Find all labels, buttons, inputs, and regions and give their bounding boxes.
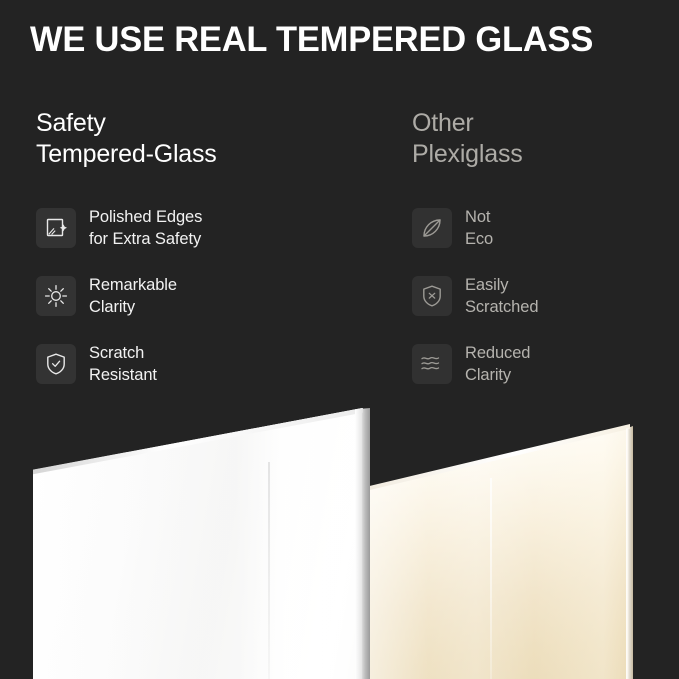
- page-title: WE USE REAL TEMPERED GLASS: [30, 20, 651, 60]
- plexiglass-panel-sheen: [370, 426, 635, 679]
- column-heading-right: Other Plexiglass: [412, 108, 679, 170]
- tempered-glass-panel-reflection-line: [268, 462, 270, 679]
- clarity-sun-icon: [36, 276, 76, 316]
- tempered-glass-panel-side-edge: [355, 408, 370, 679]
- comparison-columns: Safety Tempered-Glass Polished Edges for…: [0, 108, 679, 398]
- column-heading-left: Safety Tempered-Glass: [36, 108, 326, 170]
- feature-label-remarkable-clarity: Remarkable Clarity: [89, 274, 177, 318]
- polished-edges-icon: [36, 208, 76, 248]
- shield-check-icon: [36, 344, 76, 384]
- column-other-plexiglass: Other Plexiglass Not Eco: [412, 108, 679, 406]
- product-comparison-infographic: WE USE REAL TEMPERED GLASS Safety Temper…: [0, 0, 679, 679]
- feature-item-not-eco: Not Eco: [412, 202, 679, 254]
- feature-item-polished-edges: Polished Edges for Extra Safety: [36, 202, 326, 254]
- feature-label-not-eco: Not Eco: [465, 206, 493, 250]
- leaf-crossed-out-icon: [412, 208, 452, 248]
- column-safety-tempered-glass: Safety Tempered-Glass Polished Edges for…: [36, 108, 326, 406]
- feature-list-right: Not Eco Easily Scratched: [412, 202, 679, 390]
- feature-label-reduced-clarity: Reduced Clarity: [465, 342, 530, 386]
- feature-label-scratch-resistant: Scratch Resistant: [89, 342, 157, 386]
- feature-list-left: Polished Edges for Extra Safety Remarkab…: [36, 202, 326, 390]
- plexiglass-panel-side-edge: [626, 426, 633, 679]
- shield-x-icon: [412, 276, 452, 316]
- feature-item-remarkable-clarity: Remarkable Clarity: [36, 270, 326, 322]
- feature-item-scratch-resistant: Scratch Resistant: [36, 338, 326, 390]
- wavy-lines-icon: [412, 344, 452, 384]
- tempered-glass-panel-sheen: [33, 408, 373, 679]
- feature-item-reduced-clarity: Reduced Clarity: [412, 338, 679, 390]
- feature-item-easily-scratched: Easily Scratched: [412, 270, 679, 322]
- feature-label-easily-scratched: Easily Scratched: [465, 274, 538, 318]
- plexiglass-panel-reflection-line: [490, 478, 492, 679]
- feature-label-polished-edges: Polished Edges for Extra Safety: [89, 206, 202, 250]
- product-photo: [0, 398, 679, 679]
